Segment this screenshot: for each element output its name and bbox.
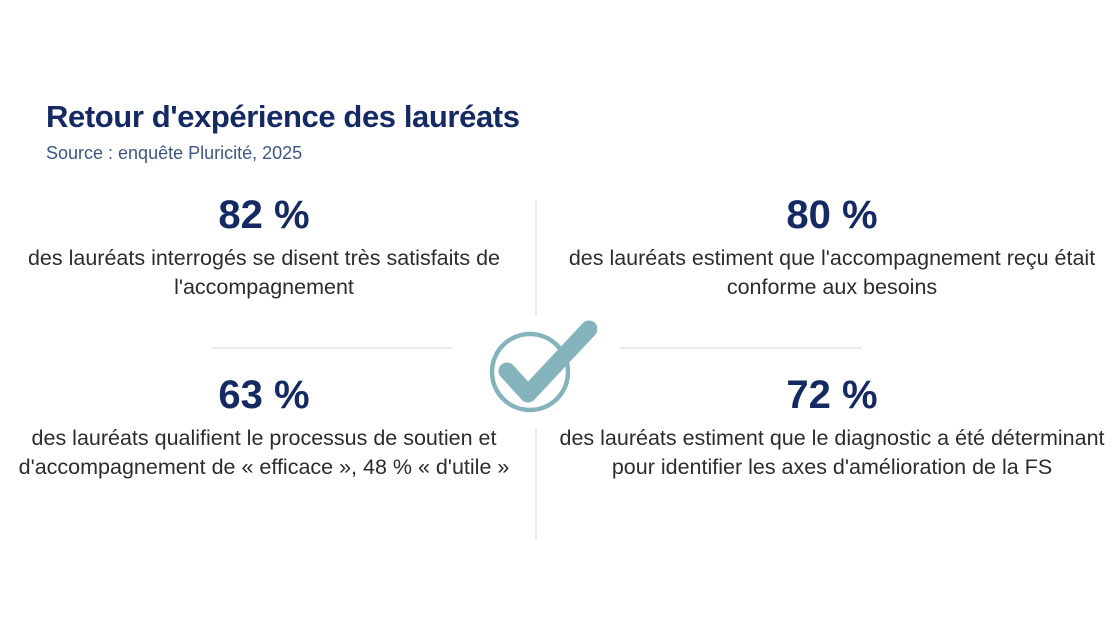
stat-description: des lauréats estiment que l'accompagneme… (552, 244, 1112, 302)
divider-horizontal-right (620, 347, 862, 349)
check-circle-icon (485, 316, 597, 420)
divider-vertical-top (535, 200, 537, 316)
stat-value: 80 % (552, 192, 1112, 238)
infographic-slide: Retour d'expérience des lauréats Source … (0, 0, 1118, 630)
divider-horizontal-left (211, 347, 453, 349)
stat-description: des lauréats estiment que le diagnostic … (552, 424, 1112, 482)
stat-value: 72 % (552, 372, 1112, 418)
stat-description: des lauréats qualifient le processus de … (8, 424, 520, 482)
page-title: Retour d'expérience des lauréats (46, 100, 686, 134)
source-note: Source : enquête Pluricité, 2025 (46, 143, 686, 165)
stat-card-diagnostic-determinant: 72 % des lauréats estiment que le diagno… (552, 372, 1112, 482)
stat-value: 82 % (8, 192, 520, 238)
header: Retour d'expérience des lauréats Source … (46, 100, 686, 165)
divider-vertical-bottom (535, 428, 537, 540)
stat-description: des lauréats interrogés se disent très s… (8, 244, 520, 302)
stat-card-satisfaction: 82 % des lauréats interrogés se disent t… (8, 192, 520, 302)
stat-card-conformite-besoins: 80 % des lauréats estiment que l'accompa… (552, 192, 1112, 302)
stat-value: 63 % (8, 372, 520, 418)
stat-card-efficacite-processus: 63 % des lauréats qualifient le processu… (8, 372, 520, 482)
